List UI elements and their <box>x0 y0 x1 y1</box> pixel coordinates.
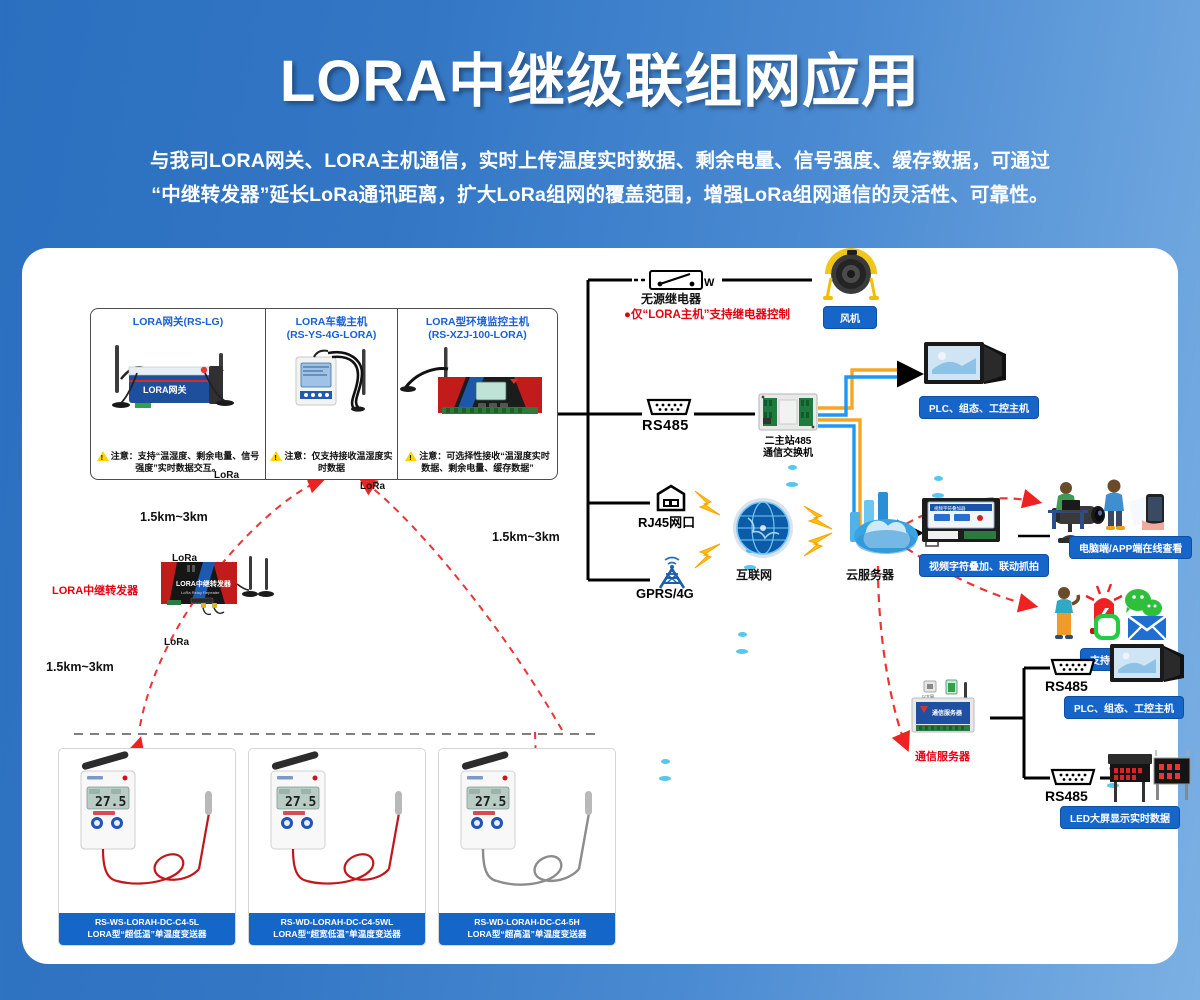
fan-device-image <box>817 248 885 309</box>
sensor-card-2[interactable]: 27.5 RS-WD-LORAH-DC-C4-5WL LORA型“超宽低温”单温… <box>248 748 426 946</box>
cloud-server-icon <box>838 490 922 565</box>
warning-icon <box>97 451 109 461</box>
sensor-caption-2: RS-WD-LORAH-DC-C4-5WL LORA型“超宽低温”单温度变送器 <box>249 913 425 945</box>
gateway-device-image: LORA网关 <box>91 339 265 425</box>
comm-plc-monitor-image <box>1108 642 1188 699</box>
page-title: LORA中继级联组网应用 <box>0 34 1200 118</box>
page-subtitle: 与我司LORA网关、LORA主机通信，实时上传温度实时数据、剩余电量、信号强度、… <box>0 144 1200 212</box>
range-label-right: 1.5km~3km <box>492 530 560 544</box>
range-label-top: 1.5km~3km <box>140 510 208 524</box>
host-card-env-title: LORA型环境监控主机 (RS-XZJ-100-LORA) <box>398 309 557 342</box>
video-overlay-device-image: 视频字符叠加器 <box>920 494 1018 555</box>
lora-dot-icon <box>661 759 670 764</box>
page-header: LORA中继级联组网应用 与我司LORA网关、LORA主机通信，实时上传温度实时… <box>0 0 1200 212</box>
svg-text:视频字符叠加器: 视频字符叠加器 <box>934 505 966 512</box>
env-device-image <box>398 343 557 429</box>
diagram-board: LORA网关(RS-LG) LORA网关 <box>22 248 1178 964</box>
warning-icon <box>270 451 282 461</box>
sensor-caption-3: RS-WD-LORAH-DC-C4-5H LORA型“超高温”单温度变送器 <box>439 913 615 945</box>
gprs-label: GPRS/4G <box>636 586 694 601</box>
lora-dot-icon <box>788 465 797 470</box>
sensor-caption-1: RS-WS-LORAH-DC-C4-5L LORA型“超低温”单温度变送器 <box>59 913 235 945</box>
comm-server-image: 以太网 通信服务器 <box>906 676 1002 753</box>
led-screen-label: LED大屏显示实时数据 <box>1060 806 1180 829</box>
vehicle-device-image <box>266 343 397 429</box>
repeater-label: LORA中继转发器 <box>52 582 138 598</box>
sensor-reading: 27.5 <box>475 795 506 810</box>
led-screen-image <box>1106 746 1192 809</box>
comm-server-label: 通信服务器 <box>915 748 970 764</box>
svg-text:LoRa Relay Repeater: LoRa Relay Repeater <box>181 590 220 595</box>
sensor-card-row: 27.5 RS-WS-LORAH-DC-C4-5L LORA型“超低温”单温度变… <box>58 748 618 948</box>
comm-rs485-lower-label: RS485 <box>1045 788 1088 804</box>
sensor-card-3[interactable]: 27.5 RS-WD-LORAH-DC-C4-5H LORA型“超高温”单温度变… <box>438 748 616 946</box>
host-card-gateway-title: LORA网关(RS-LG) <box>91 309 265 329</box>
host-card-row: LORA网关(RS-LG) LORA网关 <box>90 308 558 480</box>
internet-globe-icon <box>722 494 804 573</box>
range-label-bottom: 1.5km~3km <box>46 660 114 674</box>
subtitle-line-1: 与我司LORA网关、LORA主机通信，实时上传温度实时数据、剩余电量、信号强度、… <box>0 144 1200 178</box>
relay-label: 无源继电器 <box>641 290 701 307</box>
svg-text:通信服务器: 通信服务器 <box>932 709 963 717</box>
lora-dot-icon <box>736 649 748 654</box>
plc-monitor-image <box>922 340 1010 401</box>
pc-app-label: 电脑端/APP端在线查看 <box>1069 536 1192 559</box>
sensor-reading: 27.5 <box>285 795 316 810</box>
comm-rs485-upper-label: RS485 <box>1045 678 1088 694</box>
sensor-reading: 27.5 <box>95 795 126 810</box>
host-card-gateway[interactable]: LORA网关(RS-LG) LORA网关 <box>90 308 266 480</box>
warning-icon <box>405 451 417 461</box>
sensor-card-1[interactable]: 27.5 RS-WS-LORAH-DC-C4-5L LORA型“超低温”单温度变… <box>58 748 236 946</box>
repeater-device-text: LORA中继转发器 <box>176 579 232 588</box>
relay-note: ●仅“LORA主机”支持继电器控制 <box>624 306 790 322</box>
cloud-server-label: 云服务器 <box>846 566 894 583</box>
svg-text:W: W <box>704 277 715 289</box>
host-card-vehicle[interactable]: LORA车载主机 (RS-YS-4G-LORA) <box>266 308 398 480</box>
host-card-env[interactable]: LORA型环境监控主机 (RS-XZJ-100-LORA) <box>398 308 558 480</box>
plc-label: PLC、组态、工控主机 <box>919 396 1039 419</box>
svg-text:LORA网关: LORA网关 <box>143 384 187 395</box>
fan-label: 风机 <box>823 306 877 329</box>
internet-label: 互联网 <box>736 566 772 583</box>
rs485-label: RS485 <box>642 418 689 434</box>
lora-dot-icon <box>934 476 943 481</box>
repeater-device-image: LORA中继转发器 LoRa Relay Repeater <box>157 554 283 625</box>
lora-dot-icon <box>738 632 747 637</box>
pc-app-image <box>1042 476 1172 537</box>
rj45-label: RJ45网口 <box>638 512 695 531</box>
host-card-vehicle-title: LORA车载主机 (RS-YS-4G-LORA) <box>266 309 397 342</box>
rs485-switch-label: 二主站485 通信交换机 <box>749 436 827 460</box>
lora-tag-bottom-right: LoRa <box>535 771 1200 782</box>
remote-alarm-image <box>1042 584 1172 651</box>
subtitle-line-2: “中继转发器”延长LoRa通讯距离，扩大LoRa组网的覆盖范围，增强LoRa组网… <box>0 178 1200 212</box>
comm-plc-label: PLC、组态、工控主机 <box>1064 696 1184 719</box>
video-overlay-label: 视频字符叠加、联动抓拍 <box>919 554 1049 577</box>
